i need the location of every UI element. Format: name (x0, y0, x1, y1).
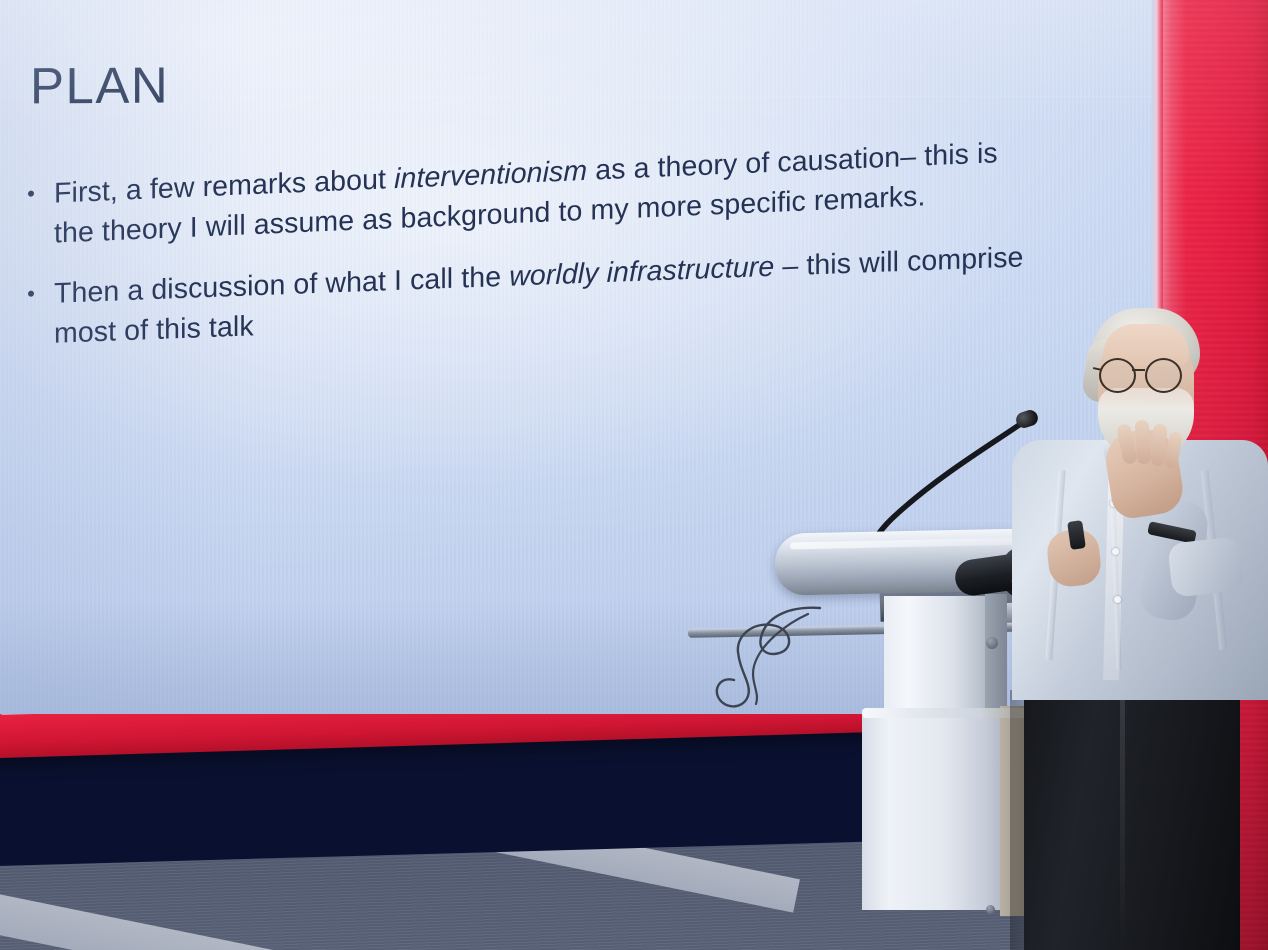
shirt-cuff (1167, 536, 1244, 597)
eyeglass-bridge (1132, 369, 1145, 371)
presenter (0, 0, 1268, 950)
shirt-button (1112, 548, 1119, 555)
eyeglass-temple (1093, 367, 1102, 371)
eyeglass-lens (1145, 358, 1182, 393)
presentation-scene: PLAN First, a few remarks about interven… (0, 0, 1268, 950)
presenter-trousers (1024, 660, 1240, 950)
shirt-button (1114, 596, 1121, 603)
trouser-crease (1120, 680, 1125, 950)
eyeglass-lens (1099, 358, 1136, 393)
finger (1134, 420, 1151, 465)
round-eyeglasses-icon (1093, 358, 1201, 392)
